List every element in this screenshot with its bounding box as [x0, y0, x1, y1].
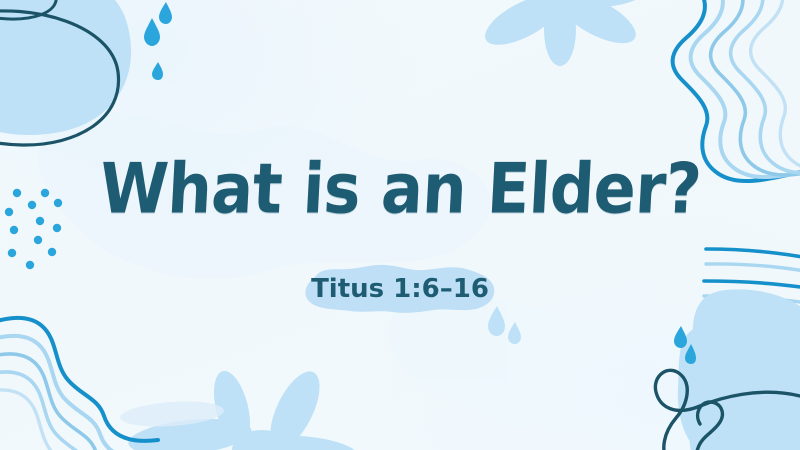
scripture-reference-label: Titus 1:6–16 [302, 264, 498, 314]
slide-content: What is an Elder? [0, 0, 800, 450]
scripture-reference-badge: Titus 1:6–16 [302, 264, 498, 314]
slide-title: What is an Elder? [98, 154, 703, 223]
presentation-slide: What is an Elder? Titus 1:6–16 [0, 0, 800, 450]
